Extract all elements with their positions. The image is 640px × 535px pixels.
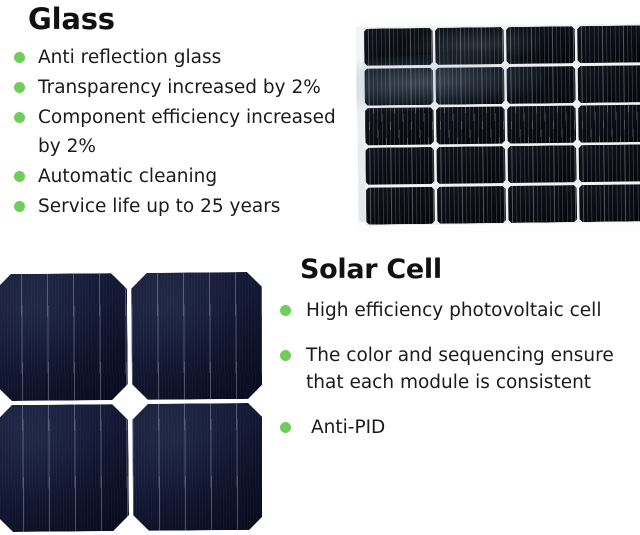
bullet-dot-icon <box>14 82 25 93</box>
solar-panel-photo: Photovoltaic module close-up showing alu… <box>356 20 640 232</box>
solar-cell-feature-list: High efficiency photovoltaic cell The co… <box>278 297 640 441</box>
closeup-cell <box>0 273 128 401</box>
list-item: Transparency increased by 2% <box>14 73 360 102</box>
panel-cell <box>365 147 434 185</box>
bullet-dot-icon <box>280 305 291 316</box>
solar-cell-section-title: Solar Cell <box>278 254 640 286</box>
panel-cell <box>436 106 505 144</box>
list-item: Anti-PID <box>278 414 640 441</box>
bullet-dot-icon <box>14 52 25 63</box>
panel-cell <box>507 106 576 144</box>
solar-cell-closeup-photo: Close-up of four monocrystalline solar c… <box>0 266 262 535</box>
panel-cell <box>577 25 640 63</box>
panel-cell <box>366 187 435 225</box>
list-item-label: Anti-PID <box>311 414 640 441</box>
bullet-dot-icon <box>280 350 291 361</box>
panel-cell <box>364 68 433 106</box>
glass-section-title: Glass <box>14 2 360 36</box>
bullet-dot-icon <box>14 201 25 212</box>
panel-cell <box>364 28 433 66</box>
list-item-label: Transparency increased by 2% <box>38 73 360 102</box>
list-item-label: The color and sequencing ensure that eac… <box>306 342 640 396</box>
solar-cell-section: Solar Cell High efficiency photovoltaic … <box>278 254 640 459</box>
bullet-dot-icon <box>14 112 25 123</box>
panel-cell-grid <box>364 25 640 224</box>
list-item-label: Automatic cleaning <box>38 162 360 191</box>
panel-cell <box>435 67 504 105</box>
bullet-dot-icon <box>14 171 25 182</box>
closeup-cell <box>131 272 262 400</box>
list-item: Automatic cleaning <box>14 162 360 191</box>
panel-cell <box>437 186 506 224</box>
list-item-label: High efficiency photovoltaic cell <box>306 297 640 324</box>
list-item: High efficiency photovoltaic cell <box>278 297 640 324</box>
panel-cell <box>508 185 577 223</box>
list-item: Component efficiency increased by 2% <box>14 103 360 161</box>
panel-cell <box>578 65 640 103</box>
cell-sheen <box>132 403 262 531</box>
panel-cell <box>435 27 504 65</box>
list-item-label: Component efficiency increased by 2% <box>38 103 360 161</box>
closeup-cell <box>0 404 129 532</box>
panel-cell <box>579 184 640 222</box>
bullet-dot-icon <box>280 422 291 433</box>
panel-cell <box>508 145 577 183</box>
list-item-label: Anti reflection glass <box>38 43 360 72</box>
panel-cell <box>365 107 434 145</box>
cell-closeup-grid <box>0 272 262 532</box>
list-item: Anti reflection glass <box>14 43 360 72</box>
list-item: The color and sequencing ensure that eac… <box>278 342 640 396</box>
closeup-cell <box>132 403 262 531</box>
list-item-label: Service life up to 25 years <box>38 192 360 221</box>
glass-feature-list: Anti reflection glass Transparency incre… <box>14 43 360 221</box>
cell-sheen <box>0 404 129 532</box>
cells-photo-caption: Close-up of four monocrystalline solar c… <box>0 266 1 267</box>
panel-cell <box>578 105 640 143</box>
panel-cell <box>579 144 640 182</box>
panel-cell <box>507 66 576 104</box>
panel-cell <box>506 26 575 64</box>
list-item: Service life up to 25 years <box>14 192 360 221</box>
glass-section: Glass Anti reflection glass Transparency… <box>14 2 360 222</box>
cell-sheen <box>0 273 128 401</box>
cell-sheen <box>131 272 262 400</box>
panel-photo-caption: Photovoltaic module close-up showing alu… <box>356 20 357 21</box>
panel-cell <box>436 146 505 184</box>
